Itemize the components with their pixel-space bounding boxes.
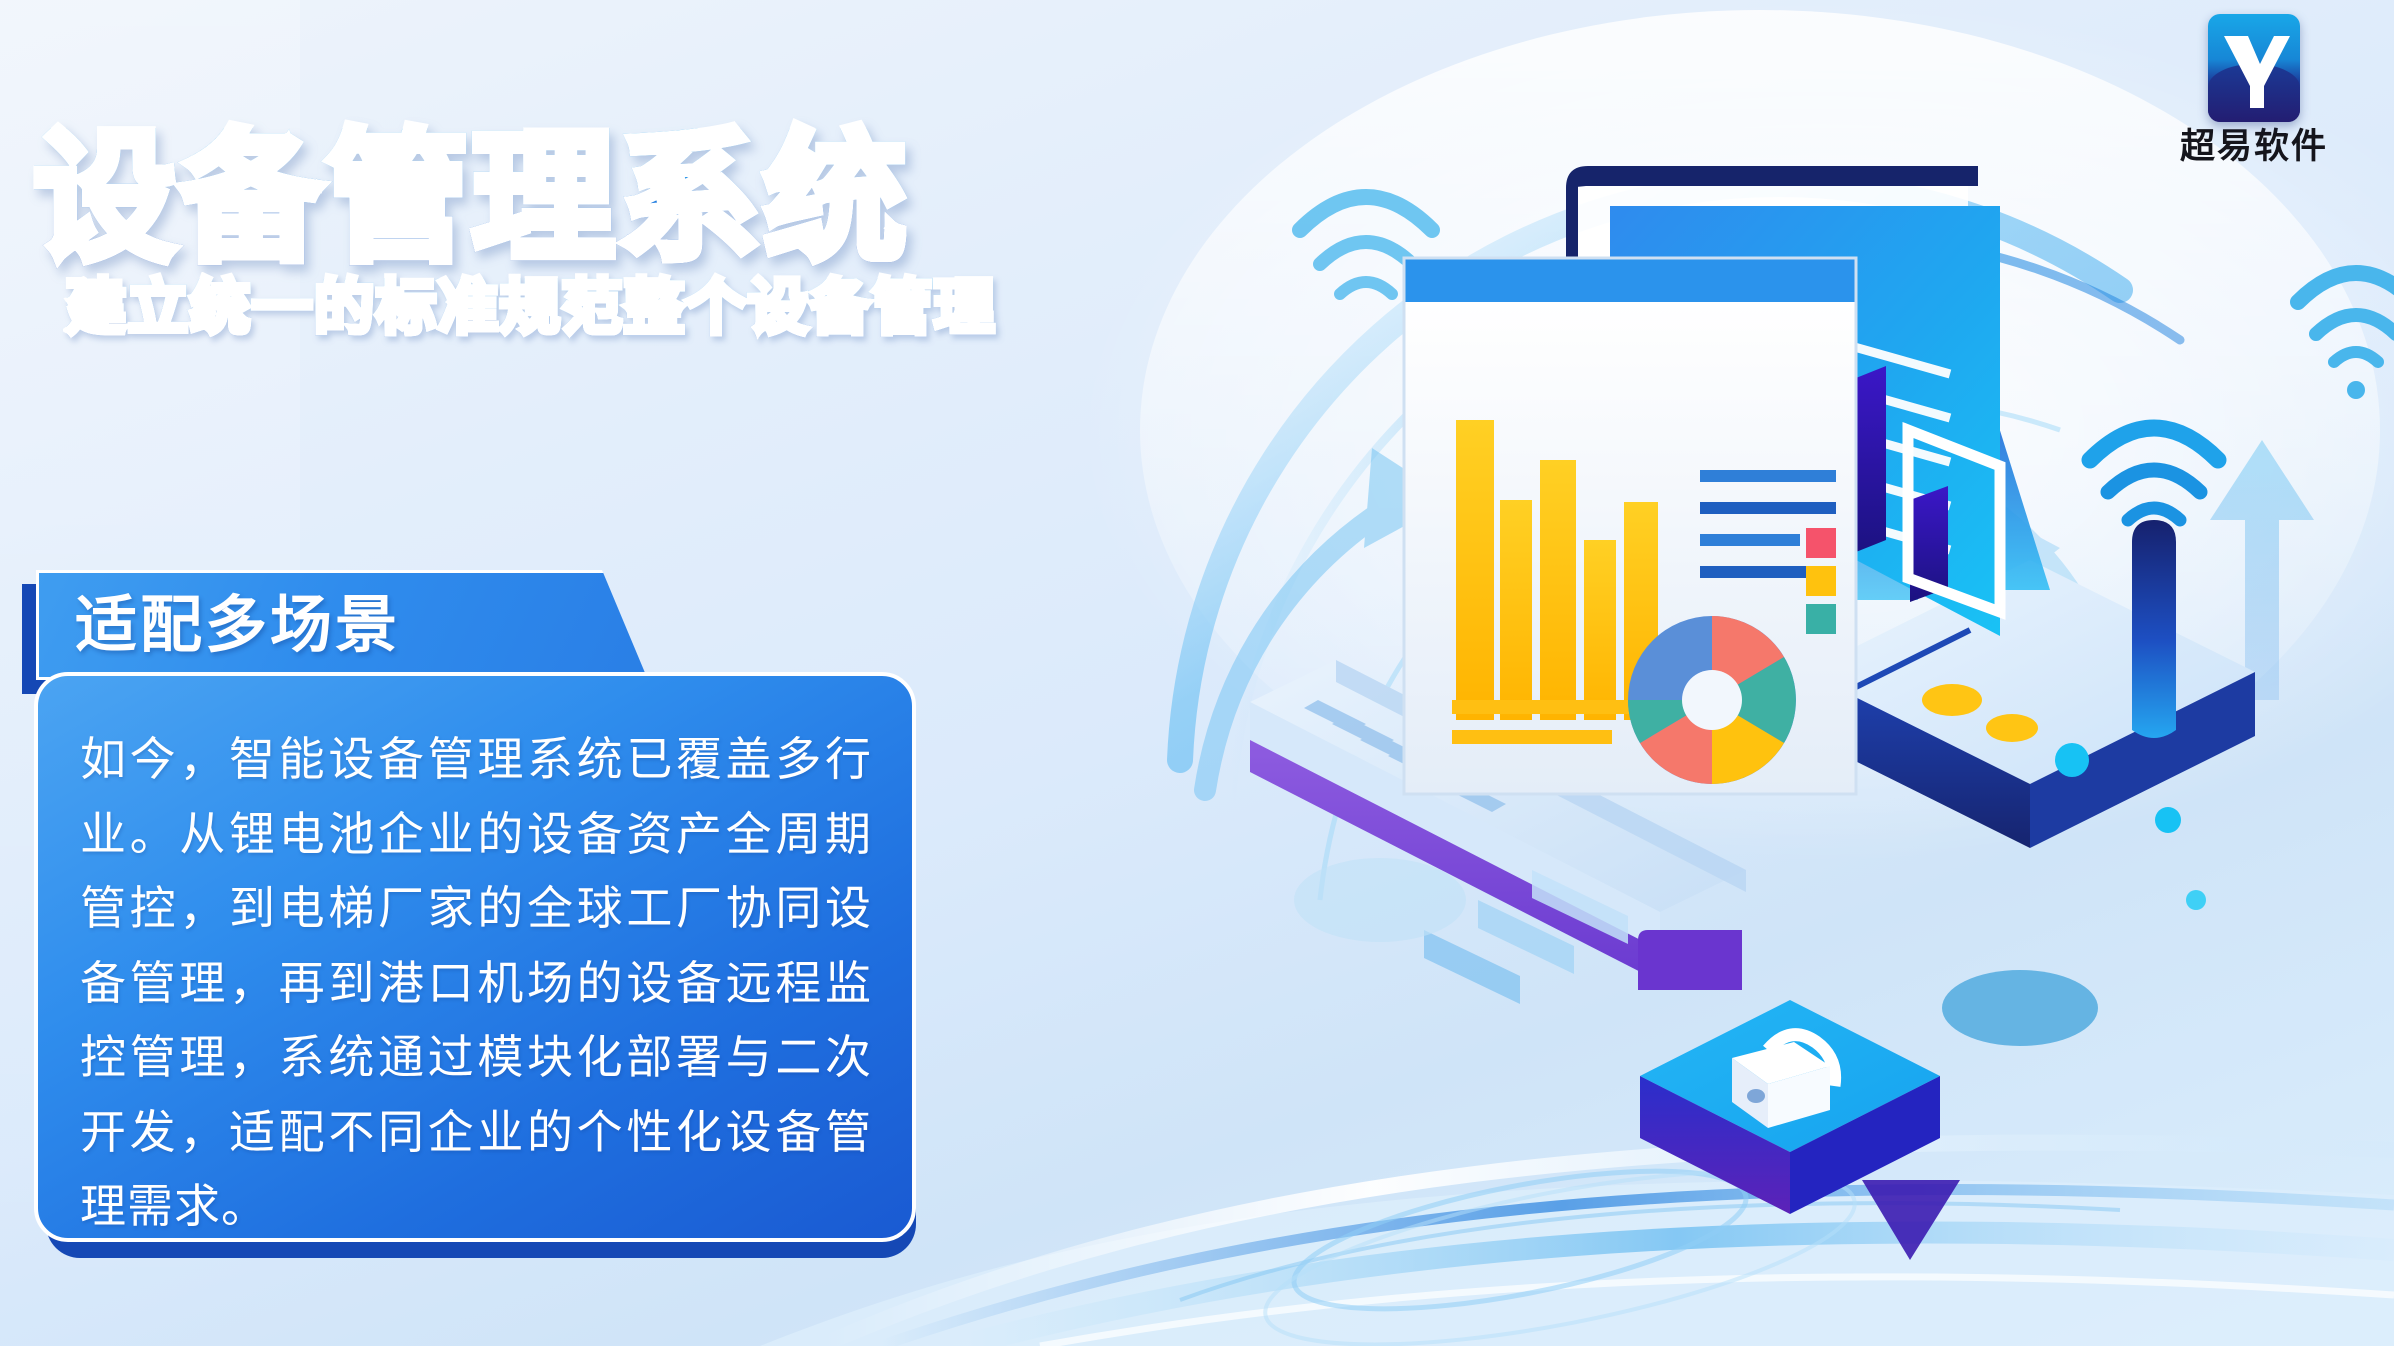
dot-decoration xyxy=(2155,807,2181,833)
promotional-banner: 超易软件 设备管理系统 建立统一的标准规范整个设备管理 适配多场景 如今，智能设… xyxy=(0,0,2394,1346)
wifi-signal-icon xyxy=(2090,428,2218,520)
up-arrow-icon xyxy=(1415,470,1529,760)
brand-logo: 超易软件 xyxy=(2154,14,2354,165)
letter-y-glyph xyxy=(2208,14,2300,122)
wifi-signal-icon xyxy=(2298,273,2394,399)
dot-decoration xyxy=(2055,743,2089,777)
brand-name: 超易软件 xyxy=(2180,130,2328,165)
curved-arrow-icon xyxy=(1205,448,1452,790)
content-paragraph: 如今，智能设备管理系统已覆盖多行业。从锂电池企业的设备资产全周期管控，到电梯厂家… xyxy=(80,722,872,1244)
server-platform-icon xyxy=(1805,330,2255,848)
letter-y-logo-icon xyxy=(2208,14,2300,122)
up-arrow-icon xyxy=(2210,440,2314,700)
badge-body: 适配多场景 xyxy=(36,570,648,680)
page-subtitle: 建立统一的标准规范整个设备管理 xyxy=(66,278,996,338)
bar-chart-icon xyxy=(1456,420,1658,720)
curved-arrow-icon xyxy=(1962,496,2125,760)
badge-label: 适配多场景 xyxy=(75,594,400,656)
page-title: 设备管理系统 xyxy=(34,128,910,270)
signal-tower-icon xyxy=(2132,520,2176,738)
dot-decoration xyxy=(2186,890,2206,910)
dashboard-card xyxy=(1400,250,1856,800)
donut-chart-icon xyxy=(1628,616,1796,784)
content-card: 如今，智能设备管理系统已覆盖多行业。从锂电池企业的设备资产全周期管控，到电梯厂家… xyxy=(34,672,916,1242)
wifi-signal-icon xyxy=(1300,197,1432,294)
steps-motif xyxy=(1294,858,1628,1004)
bar-chart-icon xyxy=(1726,352,1948,602)
laptop-dashboard-icon xyxy=(1250,120,2000,982)
lock-cube-icon xyxy=(1638,930,2098,1260)
